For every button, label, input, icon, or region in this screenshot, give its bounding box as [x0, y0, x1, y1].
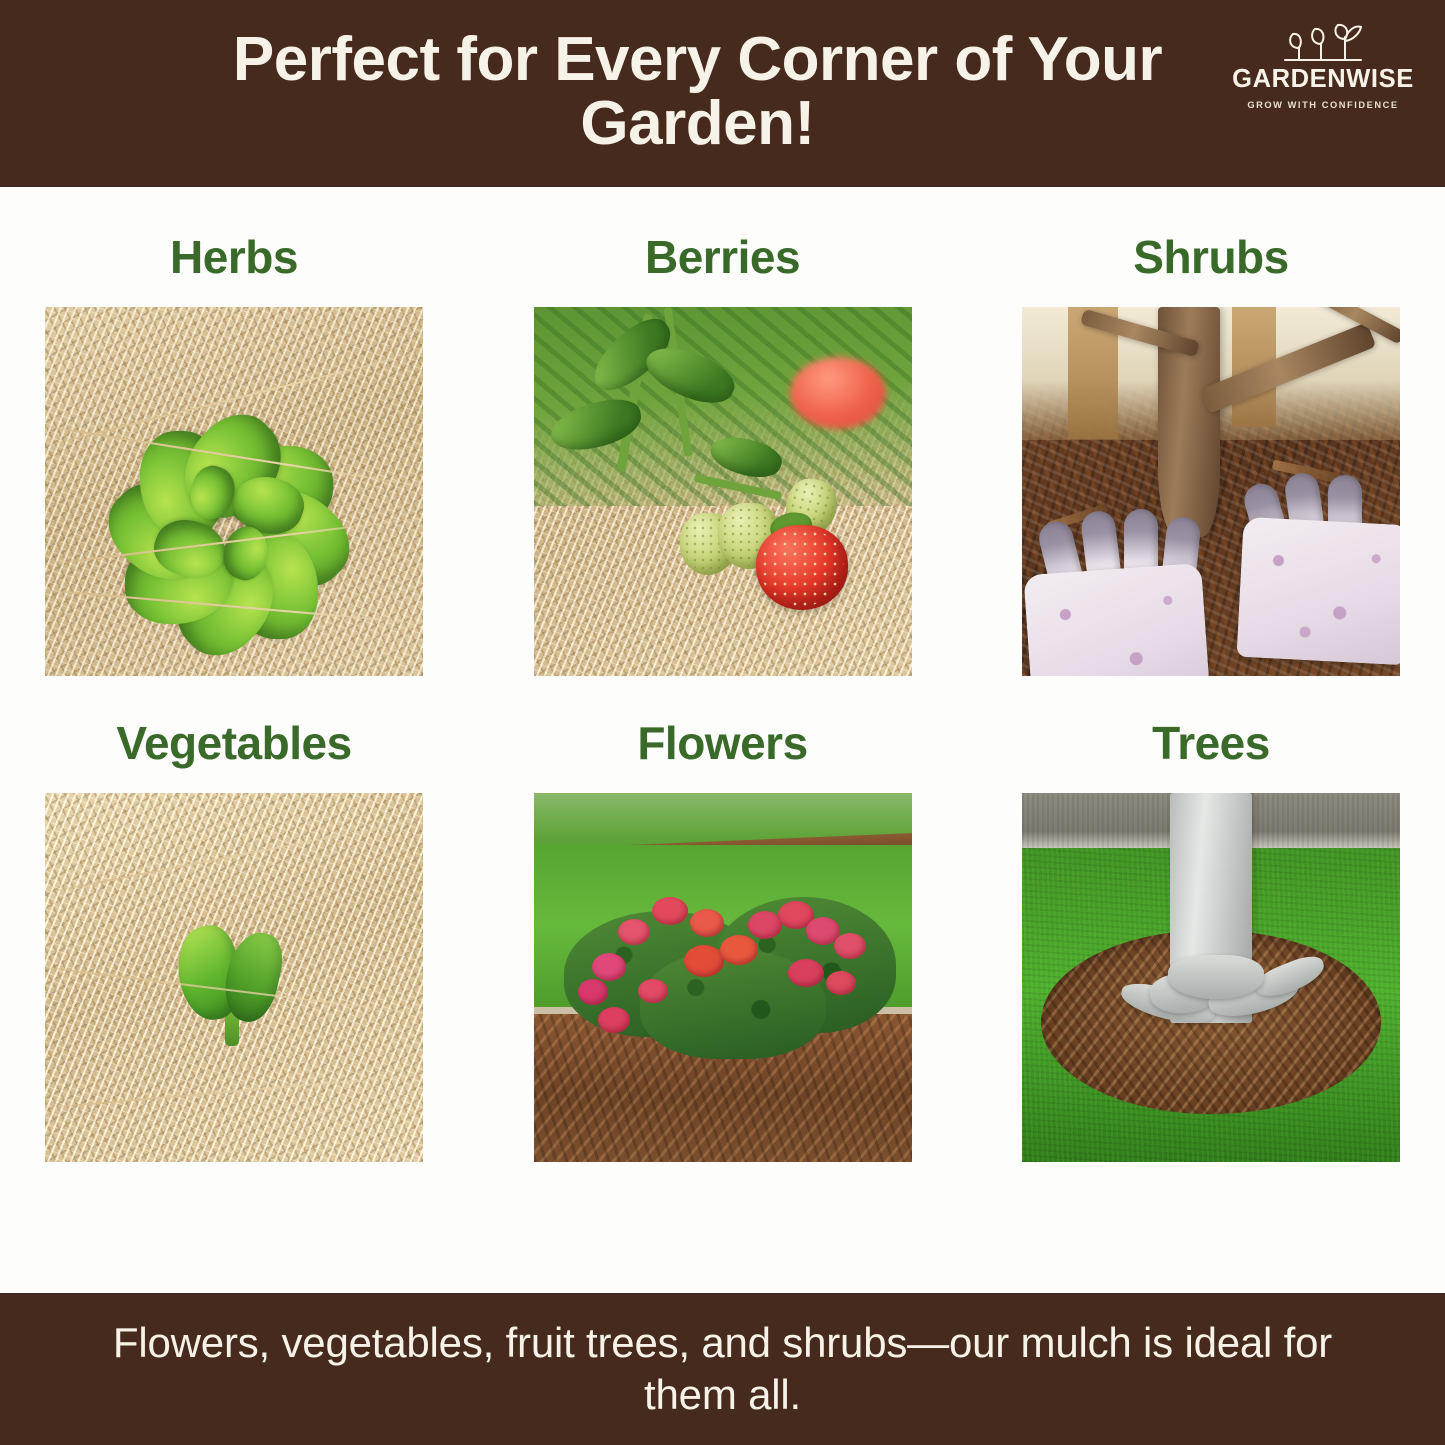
footer-bar: Flowers, vegetables, fruit trees, and sh… [0, 1293, 1445, 1445]
category-label-flowers: Flowers [534, 720, 912, 776]
category-photo-berries [534, 307, 912, 676]
category-label-herbs: Herbs [45, 234, 423, 290]
brand-name: GARDENWISE [1232, 67, 1414, 93]
category-label-berries: Berries [534, 234, 912, 290]
category-photo-flowers [534, 793, 912, 1162]
ripe-strawberry [756, 525, 848, 610]
marketing-infographic: Perfect for Every Corner of Your Garden!… [0, 0, 1445, 1445]
category-cell-trees: Trees [1022, 720, 1400, 1162]
category-cell-flowers: Flowers [534, 720, 912, 1162]
category-photo-herbs [45, 307, 423, 676]
category-grid-section: Herbs [0, 187, 1445, 1293]
category-cell-vegetables: Vegetables [45, 720, 423, 1162]
category-label-shrubs: Shrubs [1022, 234, 1400, 290]
footer-tagline: Flowers, vegetables, fruit trees, and sh… [83, 1317, 1363, 1421]
category-cell-herbs: Herbs [45, 234, 423, 676]
header-bar: Perfect for Every Corner of Your Garden!… [0, 0, 1445, 187]
category-cell-berries: Berries [534, 234, 912, 676]
brand-tagline: GROW WITH CONFIDENCE [1247, 100, 1398, 110]
lettuce-rosette [104, 367, 354, 617]
brand-logo: GARDENWISE GROW WITH CONFIDENCE [1223, 20, 1423, 110]
tree-root-flare [1168, 955, 1264, 999]
category-cell-shrubs: Shrubs [1022, 234, 1400, 676]
category-photo-shrubs [1022, 307, 1400, 676]
gardening-glove-right [1236, 517, 1400, 666]
category-photo-trees [1022, 793, 1400, 1162]
page-title: Perfect for Every Corner of Your Garden! [183, 28, 1263, 160]
category-grid: Herbs [45, 187, 1400, 1162]
three-sprouts-icon [1275, 20, 1371, 66]
gardening-glove-left [1023, 563, 1210, 676]
category-photo-vegetables [45, 793, 423, 1162]
category-label-trees: Trees [1022, 720, 1400, 776]
blurred-background-strawberry [790, 357, 886, 429]
category-label-vegetables: Vegetables [45, 720, 423, 776]
